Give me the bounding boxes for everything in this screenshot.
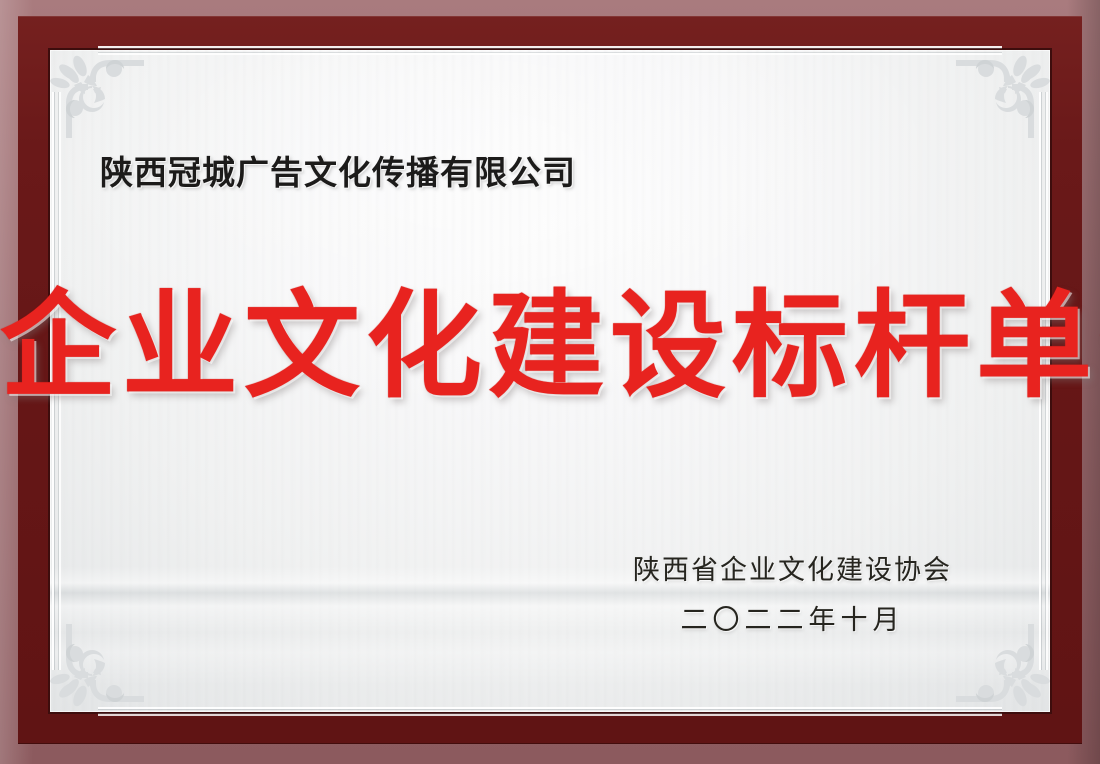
award-plaque: 陕西冠城广告文化传播有限公司 企业文化建设标杆单位 陕西省企业文化建设协会 二〇… xyxy=(0,0,1100,764)
award-title: 企业文化建设标杆单位 xyxy=(0,286,1100,408)
issue-date: 二〇二二年十月 xyxy=(633,598,952,637)
plaque-content: 陕西冠城广告文化传播有限公司 企业文化建设标杆单位 陕西省企业文化建设协会 二〇… xyxy=(0,0,1100,764)
issuer-name: 陕西省企业文化建设协会 xyxy=(633,548,952,587)
signature-block: 陕西省企业文化建设协会 二〇二二年十月 xyxy=(633,548,952,637)
company-name: 陕西冠城广告文化传播有限公司 xyxy=(100,146,576,194)
